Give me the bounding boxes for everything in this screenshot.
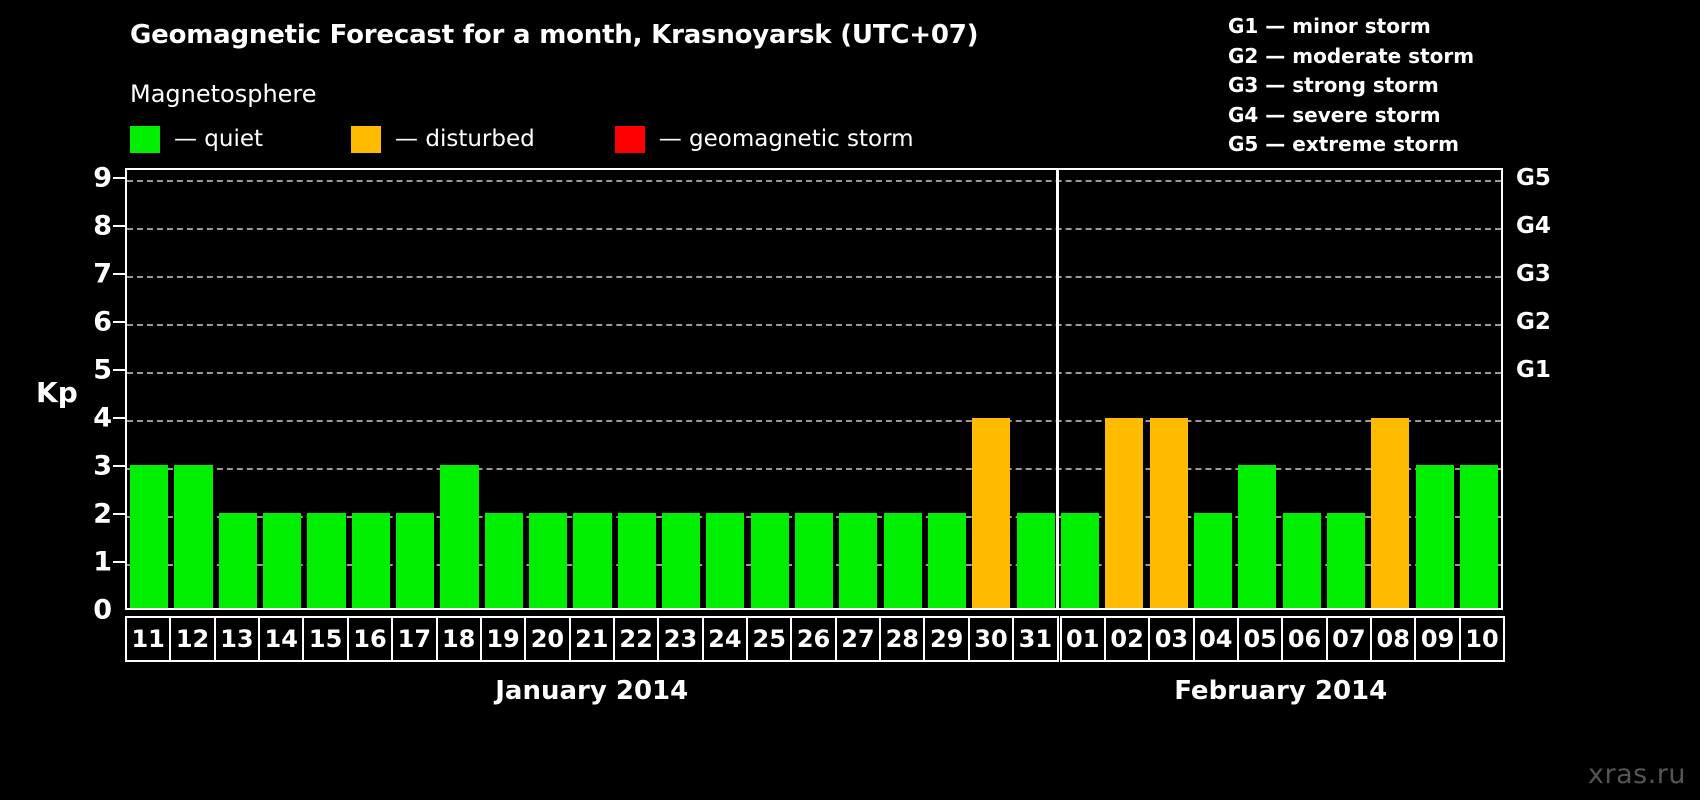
date-label: 11 <box>131 627 164 651</box>
bar[interactable] <box>263 513 301 608</box>
bar-series <box>127 170 1501 608</box>
bar-cell[interactable] <box>1324 170 1368 608</box>
date-label: 30 <box>974 627 1007 651</box>
bar[interactable] <box>1460 465 1498 608</box>
g-tick-label-G5: G5 <box>1516 165 1551 191</box>
date-label: 16 <box>353 627 386 651</box>
date-label: 22 <box>619 627 652 651</box>
date-label: 09 <box>1421 627 1454 651</box>
bar-cell[interactable] <box>349 170 393 608</box>
g-tick-label-G1: G1 <box>1516 357 1551 383</box>
date-label: 21 <box>575 627 608 651</box>
bar[interactable] <box>1150 418 1188 608</box>
y-tick-label-6: 6 <box>93 306 112 337</box>
date-label: 17 <box>398 627 431 651</box>
month-separator <box>1056 168 1059 610</box>
bar[interactable] <box>529 513 567 608</box>
plot-frame <box>125 168 1503 610</box>
date-label: 10 <box>1465 627 1498 651</box>
g-legend-row-5: G5 — extreme storm <box>1228 130 1474 160</box>
date-label: 14 <box>265 627 298 651</box>
bar[interactable] <box>972 418 1010 608</box>
bar-cell[interactable] <box>659 170 703 608</box>
bar[interactable] <box>1017 513 1055 608</box>
date-label: 20 <box>531 627 564 651</box>
date-cell[interactable]: 02 <box>1104 616 1150 662</box>
y-tick-mark-2 <box>113 513 125 515</box>
month-label-1: January 2014 <box>495 676 688 706</box>
bar[interactable] <box>440 465 478 608</box>
g-tick-label-G4: G4 <box>1516 213 1551 239</box>
date-cell[interactable]: 07 <box>1326 616 1372 662</box>
bar-cell[interactable] <box>304 170 348 608</box>
date-cell[interactable]: 11 <box>125 616 171 662</box>
y-tick-mark-1 <box>113 561 125 563</box>
bar-cell[interactable] <box>1147 170 1191 608</box>
date-cell[interactable]: 08 <box>1370 616 1416 662</box>
bar-cell[interactable] <box>482 170 526 608</box>
bar-cell[interactable] <box>1014 170 1058 608</box>
date-cell[interactable]: 15 <box>302 616 348 662</box>
y-tick-mark-6 <box>113 321 125 323</box>
date-label: 12 <box>176 627 209 651</box>
date-cell[interactable]: 21 <box>569 616 615 662</box>
y-tick-mark-7 <box>113 273 125 275</box>
date-label: 24 <box>708 627 741 651</box>
bar-cell[interactable] <box>615 170 659 608</box>
date-label: 06 <box>1288 627 1321 651</box>
legend-swatch-quiet <box>130 126 160 153</box>
date-cell[interactable]: 16 <box>347 616 393 662</box>
y-tick-label-0: 0 <box>93 595 112 626</box>
bar[interactable] <box>307 513 345 608</box>
month-labels: January 2014February 2014 <box>125 676 1503 716</box>
date-cell[interactable]: 19 <box>480 616 526 662</box>
bar[interactable] <box>1371 418 1409 608</box>
date-label: 03 <box>1155 627 1188 651</box>
date-cell[interactable]: 12 <box>169 616 215 662</box>
y-tick-mark-9 <box>113 177 125 179</box>
bar-cell[interactable] <box>171 170 215 608</box>
y-tick-mark-4 <box>113 417 125 419</box>
g-scale-legend: G1 — minor stormG2 — moderate stormG3 — … <box>1228 12 1474 160</box>
date-cell[interactable]: 30 <box>968 616 1014 662</box>
date-label: 25 <box>753 627 786 651</box>
bar-cell[interactable] <box>437 170 481 608</box>
y-tick-label-4: 4 <box>93 402 112 433</box>
y-tick-label-3: 3 <box>93 450 112 481</box>
watermark: xras.ru <box>1588 759 1686 790</box>
g-legend-row-2: G2 — moderate storm <box>1228 42 1474 72</box>
date-label: 13 <box>220 627 253 651</box>
date-cell[interactable]: 24 <box>702 616 748 662</box>
date-cell[interactable]: 28 <box>879 616 925 662</box>
date-cell[interactable]: 10 <box>1459 616 1505 662</box>
date-label: 23 <box>664 627 697 651</box>
bar[interactable] <box>1283 513 1321 608</box>
date-label: 07 <box>1332 627 1365 651</box>
plot-area <box>127 170 1501 608</box>
bar-cell[interactable] <box>1102 170 1146 608</box>
y-tick-mark-8 <box>113 225 125 227</box>
bar-cell[interactable] <box>792 170 836 608</box>
bar[interactable] <box>795 513 833 608</box>
legend-label-quiet: — quiet <box>174 126 263 152</box>
bar-cell[interactable] <box>969 170 1013 608</box>
g-legend-row-1: G1 — minor storm <box>1228 12 1474 42</box>
date-cell[interactable]: 03 <box>1148 616 1194 662</box>
bar[interactable] <box>130 465 168 608</box>
date-cell[interactable]: 05 <box>1237 616 1283 662</box>
g-legend-row-3: G3 — strong storm <box>1228 71 1474 101</box>
bar[interactable] <box>884 513 922 608</box>
bar[interactable] <box>839 513 877 608</box>
color-legend: — quiet — disturbed — geomagnetic storm <box>130 124 914 154</box>
legend-entry-disturbed: — disturbed <box>351 126 535 153</box>
bar-cell[interactable] <box>127 170 171 608</box>
date-cell[interactable]: 27 <box>835 616 881 662</box>
y-axis-right-g-scale: G1G2G3G4G5 <box>1508 168 1578 610</box>
bar-cell[interactable] <box>748 170 792 608</box>
date-cell[interactable]: 20 <box>524 616 570 662</box>
bar[interactable] <box>219 513 257 608</box>
bar-cell[interactable] <box>570 170 614 608</box>
bar-cell[interactable] <box>1413 170 1457 608</box>
legend-label-disturbed: — disturbed <box>395 126 535 152</box>
date-cell[interactable]: 26 <box>790 616 836 662</box>
date-cell[interactable]: 23 <box>657 616 703 662</box>
legend-swatch-storm <box>615 126 645 153</box>
bar-cell[interactable] <box>836 170 880 608</box>
bar-cell[interactable] <box>1235 170 1279 608</box>
bar-cell[interactable] <box>1191 170 1235 608</box>
y-tick-label-8: 8 <box>93 210 112 241</box>
date-cell[interactable]: 09 <box>1414 616 1460 662</box>
date-label: 26 <box>797 627 830 651</box>
date-label: 18 <box>442 627 475 651</box>
y-axis-left: 0123456789 <box>78 168 122 610</box>
date-label: 15 <box>309 627 342 651</box>
month-label-2: February 2014 <box>1174 676 1387 706</box>
date-cell[interactable]: 18 <box>436 616 482 662</box>
g-tick-label-G2: G2 <box>1516 309 1551 335</box>
date-cell[interactable]: 04 <box>1193 616 1239 662</box>
bar-cell[interactable] <box>1368 170 1412 608</box>
date-label: 29 <box>930 627 963 651</box>
bar[interactable] <box>1061 513 1099 608</box>
date-label: 08 <box>1377 627 1410 651</box>
bar[interactable] <box>396 513 434 608</box>
bar[interactable] <box>1238 465 1276 608</box>
bar-cell[interactable] <box>925 170 969 608</box>
y-tick-label-1: 1 <box>93 546 112 577</box>
y-tick-label-9: 9 <box>93 162 112 193</box>
bar[interactable] <box>352 513 390 608</box>
date-cell[interactable]: 22 <box>613 616 659 662</box>
bar[interactable] <box>706 513 744 608</box>
bar[interactable] <box>618 513 656 608</box>
bar-cell[interactable] <box>1280 170 1324 608</box>
legend-swatch-disturbed <box>351 126 381 153</box>
bar[interactable] <box>1327 513 1365 608</box>
bar-cell[interactable] <box>393 170 437 608</box>
date-cell[interactable]: 06 <box>1281 616 1327 662</box>
date-cell[interactable]: 01 <box>1060 616 1106 662</box>
y-tick-mark-3 <box>113 465 125 467</box>
date-label: 02 <box>1110 627 1143 651</box>
bar-cell[interactable] <box>260 170 304 608</box>
date-cell[interactable]: 17 <box>391 616 437 662</box>
date-label: 04 <box>1199 627 1232 651</box>
page-title: Geomagnetic Forecast for a month, Krasno… <box>130 20 978 50</box>
y-tick-mark-5 <box>113 369 125 371</box>
bar-cell[interactable] <box>1457 170 1501 608</box>
magnetosphere-heading: Magnetosphere <box>130 80 317 108</box>
date-cell[interactable]: 29 <box>923 616 969 662</box>
date-cell[interactable]: 13 <box>214 616 260 662</box>
legend-entry-storm: — geomagnetic storm <box>615 126 914 153</box>
y-tick-label-2: 2 <box>93 498 112 529</box>
y-tick-label-7: 7 <box>93 258 112 289</box>
bar[interactable] <box>928 513 966 608</box>
date-label: 01 <box>1066 627 1099 651</box>
bar-cell[interactable] <box>703 170 747 608</box>
date-label: 28 <box>886 627 919 651</box>
chart-root: Geomagnetic Forecast for a month, Krasno… <box>0 0 1700 800</box>
date-label: 27 <box>841 627 874 651</box>
bar[interactable] <box>1194 513 1232 608</box>
g-legend-row-4: G4 — severe storm <box>1228 101 1474 131</box>
bar[interactable] <box>174 465 212 608</box>
g-tick-label-G3: G3 <box>1516 261 1551 287</box>
legend-label-storm: — geomagnetic storm <box>659 126 914 152</box>
y-tick-label-5: 5 <box>93 354 112 385</box>
date-label: 19 <box>486 627 519 651</box>
bar[interactable] <box>1105 418 1143 608</box>
legend-entry-quiet: — quiet <box>130 126 263 153</box>
bar-cell[interactable] <box>881 170 925 608</box>
date-cell[interactable]: 31 <box>1012 616 1058 662</box>
date-cell[interactable]: 25 <box>746 616 792 662</box>
y-axis-title: Kp <box>36 376 78 409</box>
bar[interactable] <box>573 513 611 608</box>
bar[interactable] <box>751 513 789 608</box>
date-label: 05 <box>1243 627 1276 651</box>
date-axis: 1112131415161718192021222324252627282930… <box>125 616 1503 662</box>
date-label: 31 <box>1019 627 1052 651</box>
bar[interactable] <box>485 513 523 608</box>
bar-cell[interactable] <box>526 170 570 608</box>
date-cell[interactable]: 14 <box>258 616 304 662</box>
bar-cell[interactable] <box>216 170 260 608</box>
bar[interactable] <box>1416 465 1454 608</box>
bar-cell[interactable] <box>1058 170 1102 608</box>
bar[interactable] <box>662 513 700 608</box>
